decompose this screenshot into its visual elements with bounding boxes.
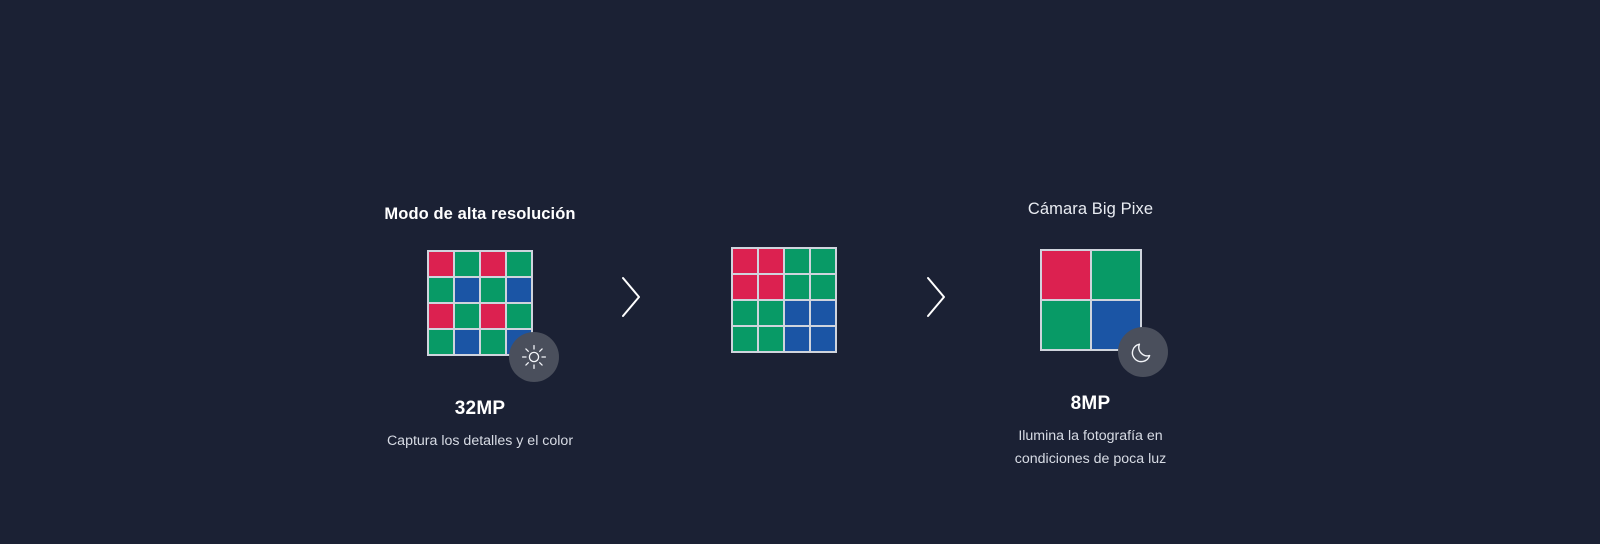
pixel-cell-blue [811,301,835,325]
pixel-cell-blue [785,301,809,325]
panel-binning-intermediate [684,247,884,353]
pixel-cell-green [759,301,783,325]
pixel-cell-green [733,301,757,325]
panel-high-resolution: Modo de alta resolución [340,205,620,453]
chevron-right-icon-2 [923,273,949,321]
pixel-cell-green [455,252,479,276]
pixel-cell-green [1042,301,1090,349]
pixel-cell-green [429,278,453,302]
pixel-grid-binned-2x2 [1040,249,1142,351]
pixel-cell-red [1042,251,1090,299]
pixel-cell-green [455,304,479,328]
panel-left-megapixels: 32MP [455,398,505,420]
pixel-cell-green [429,330,453,354]
sun-icon-badge [509,332,559,382]
pixel-cell-green [1092,251,1140,299]
pixel-cell-green [507,304,531,328]
panel-right-caption: Ilumina la fotografía en condiciones de … [1015,425,1166,471]
pixel-cell-green [785,275,809,299]
pixel-cell-blue [507,278,531,302]
panel-left-title: Modo de alta resolución [384,205,575,224]
pixel-binning-diagram: Modo de alta resolución [0,0,1600,544]
pixel-grid-bayer-4x4 [427,250,533,356]
panel-right-megapixels: 8MP [1071,393,1111,415]
chevron-right-icon-1 [618,273,644,321]
pixel-cell-green [481,330,505,354]
pixel-cell-red [481,304,505,328]
pixel-cell-green [507,252,531,276]
pixel-cell-green [785,249,809,273]
grid-cells-middle [731,247,837,353]
pixel-cell-green [811,249,835,273]
pixel-grid-binned-4x4 [731,247,837,353]
pixel-cell-green [481,278,505,302]
moon-icon-badge [1118,327,1168,377]
pixel-cell-blue [455,330,479,354]
pixel-cell-red [429,252,453,276]
pixel-cell-red [759,275,783,299]
pixel-cell-blue [785,327,809,351]
panel-left-caption: Captura los detalles y el color [387,430,573,453]
pixel-cell-green [759,327,783,351]
pixel-cell-red [429,304,453,328]
moon-icon [1130,339,1156,365]
pixel-cell-green [733,327,757,351]
pixel-cell-blue [455,278,479,302]
pixel-cell-red [733,249,757,273]
sun-icon [521,344,547,370]
pixel-cell-green [811,275,835,299]
pixel-cell-blue [811,327,835,351]
panel-big-pixel: Cámara Big Pixe 8MP Ilumina la fotografí… [948,200,1233,471]
pixel-cell-red [481,252,505,276]
pixel-cell-red [733,275,757,299]
pixel-cell-red [759,249,783,273]
panel-right-title: Cámara Big Pixe [1028,200,1153,219]
